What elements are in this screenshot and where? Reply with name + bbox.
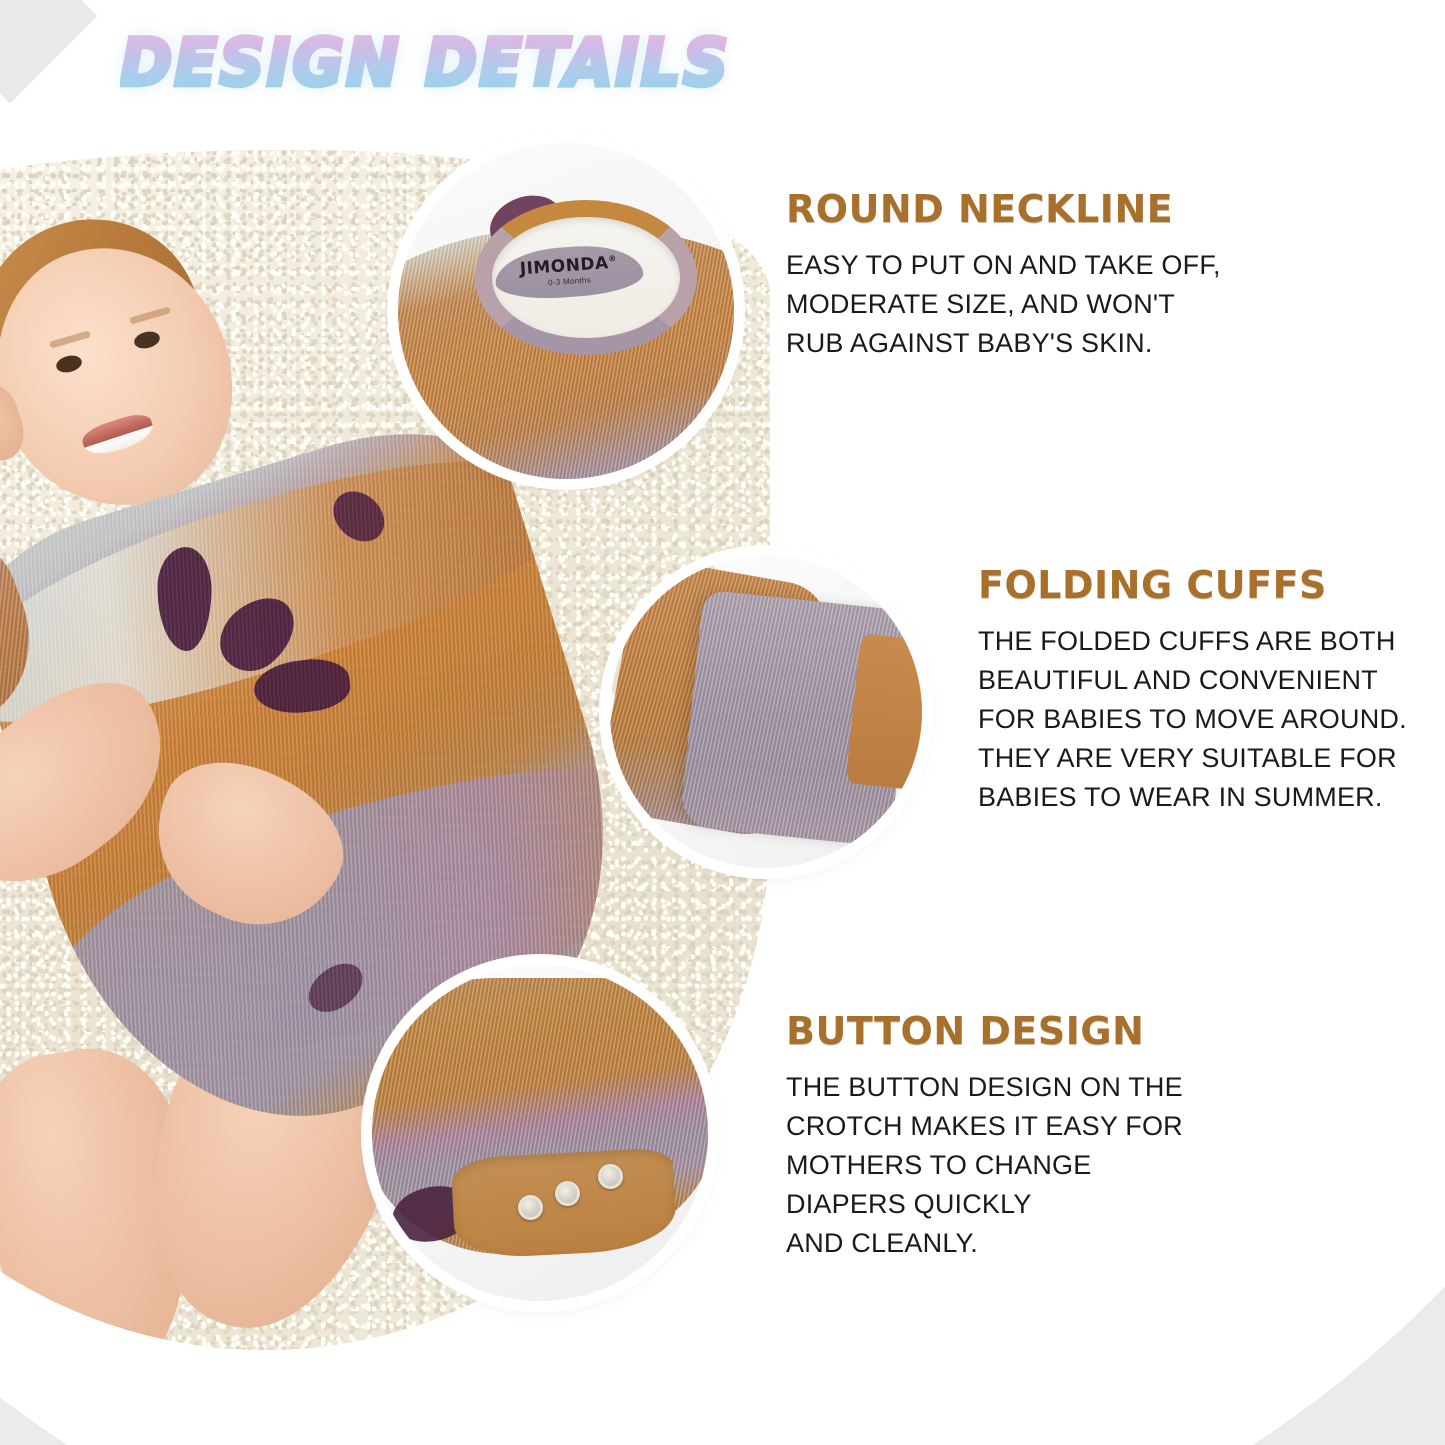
button-detail-inner: [372, 965, 708, 1301]
snap-button-icon: [518, 1195, 543, 1220]
brand-name: JIMONDA: [520, 254, 610, 280]
infographic-stage: DESIGN DETAILS: [0, 0, 1445, 1445]
brand-name-text: JIMONDA®: [520, 255, 618, 279]
neckline-detail-inner: JIMONDA® 0-3 Months: [398, 143, 734, 479]
snap-button-icon: [598, 1164, 623, 1189]
page-title: DESIGN DETAILS: [120, 26, 730, 101]
neckline-detail-photo: JIMONDA® 0-3 Months: [398, 143, 734, 479]
feature-block-neckline: ROUND NECKLINE EASY TO PUT ON AND TAKE O…: [786, 190, 1346, 363]
size-label-text: 0-3 Months: [548, 276, 592, 288]
cuff-detail-inner: [610, 556, 922, 868]
folding-cuff-detail-photo: [610, 556, 922, 868]
feature-body-buttons: THE BUTTON DESIGN ON THE CROTCH MAKES IT…: [786, 1068, 1256, 1262]
feature-body-cuffs: THE FOLDED CUFFS ARE BOTH BEAUTIFUL AND …: [978, 622, 1445, 816]
feature-block-cuffs: FOLDING CUFFS THE FOLDED CUFFS ARE BOTH …: [978, 566, 1445, 816]
trademark-symbol: ®: [608, 254, 617, 264]
feature-heading-cuffs: FOLDING CUFFS: [978, 566, 1445, 604]
crotch-button-detail-photo: [372, 965, 708, 1301]
feature-block-buttons: BUTTON DESIGN THE BUTTON DESIGN ON THE C…: [786, 1012, 1256, 1262]
feature-heading-neckline: ROUND NECKLINE: [786, 190, 1346, 228]
feature-body-neckline: EASY TO PUT ON AND TAKE OFF, MODERATE SI…: [786, 246, 1346, 363]
feature-heading-buttons: BUTTON DESIGN: [786, 1012, 1256, 1050]
snap-button-icon: [555, 1181, 580, 1206]
